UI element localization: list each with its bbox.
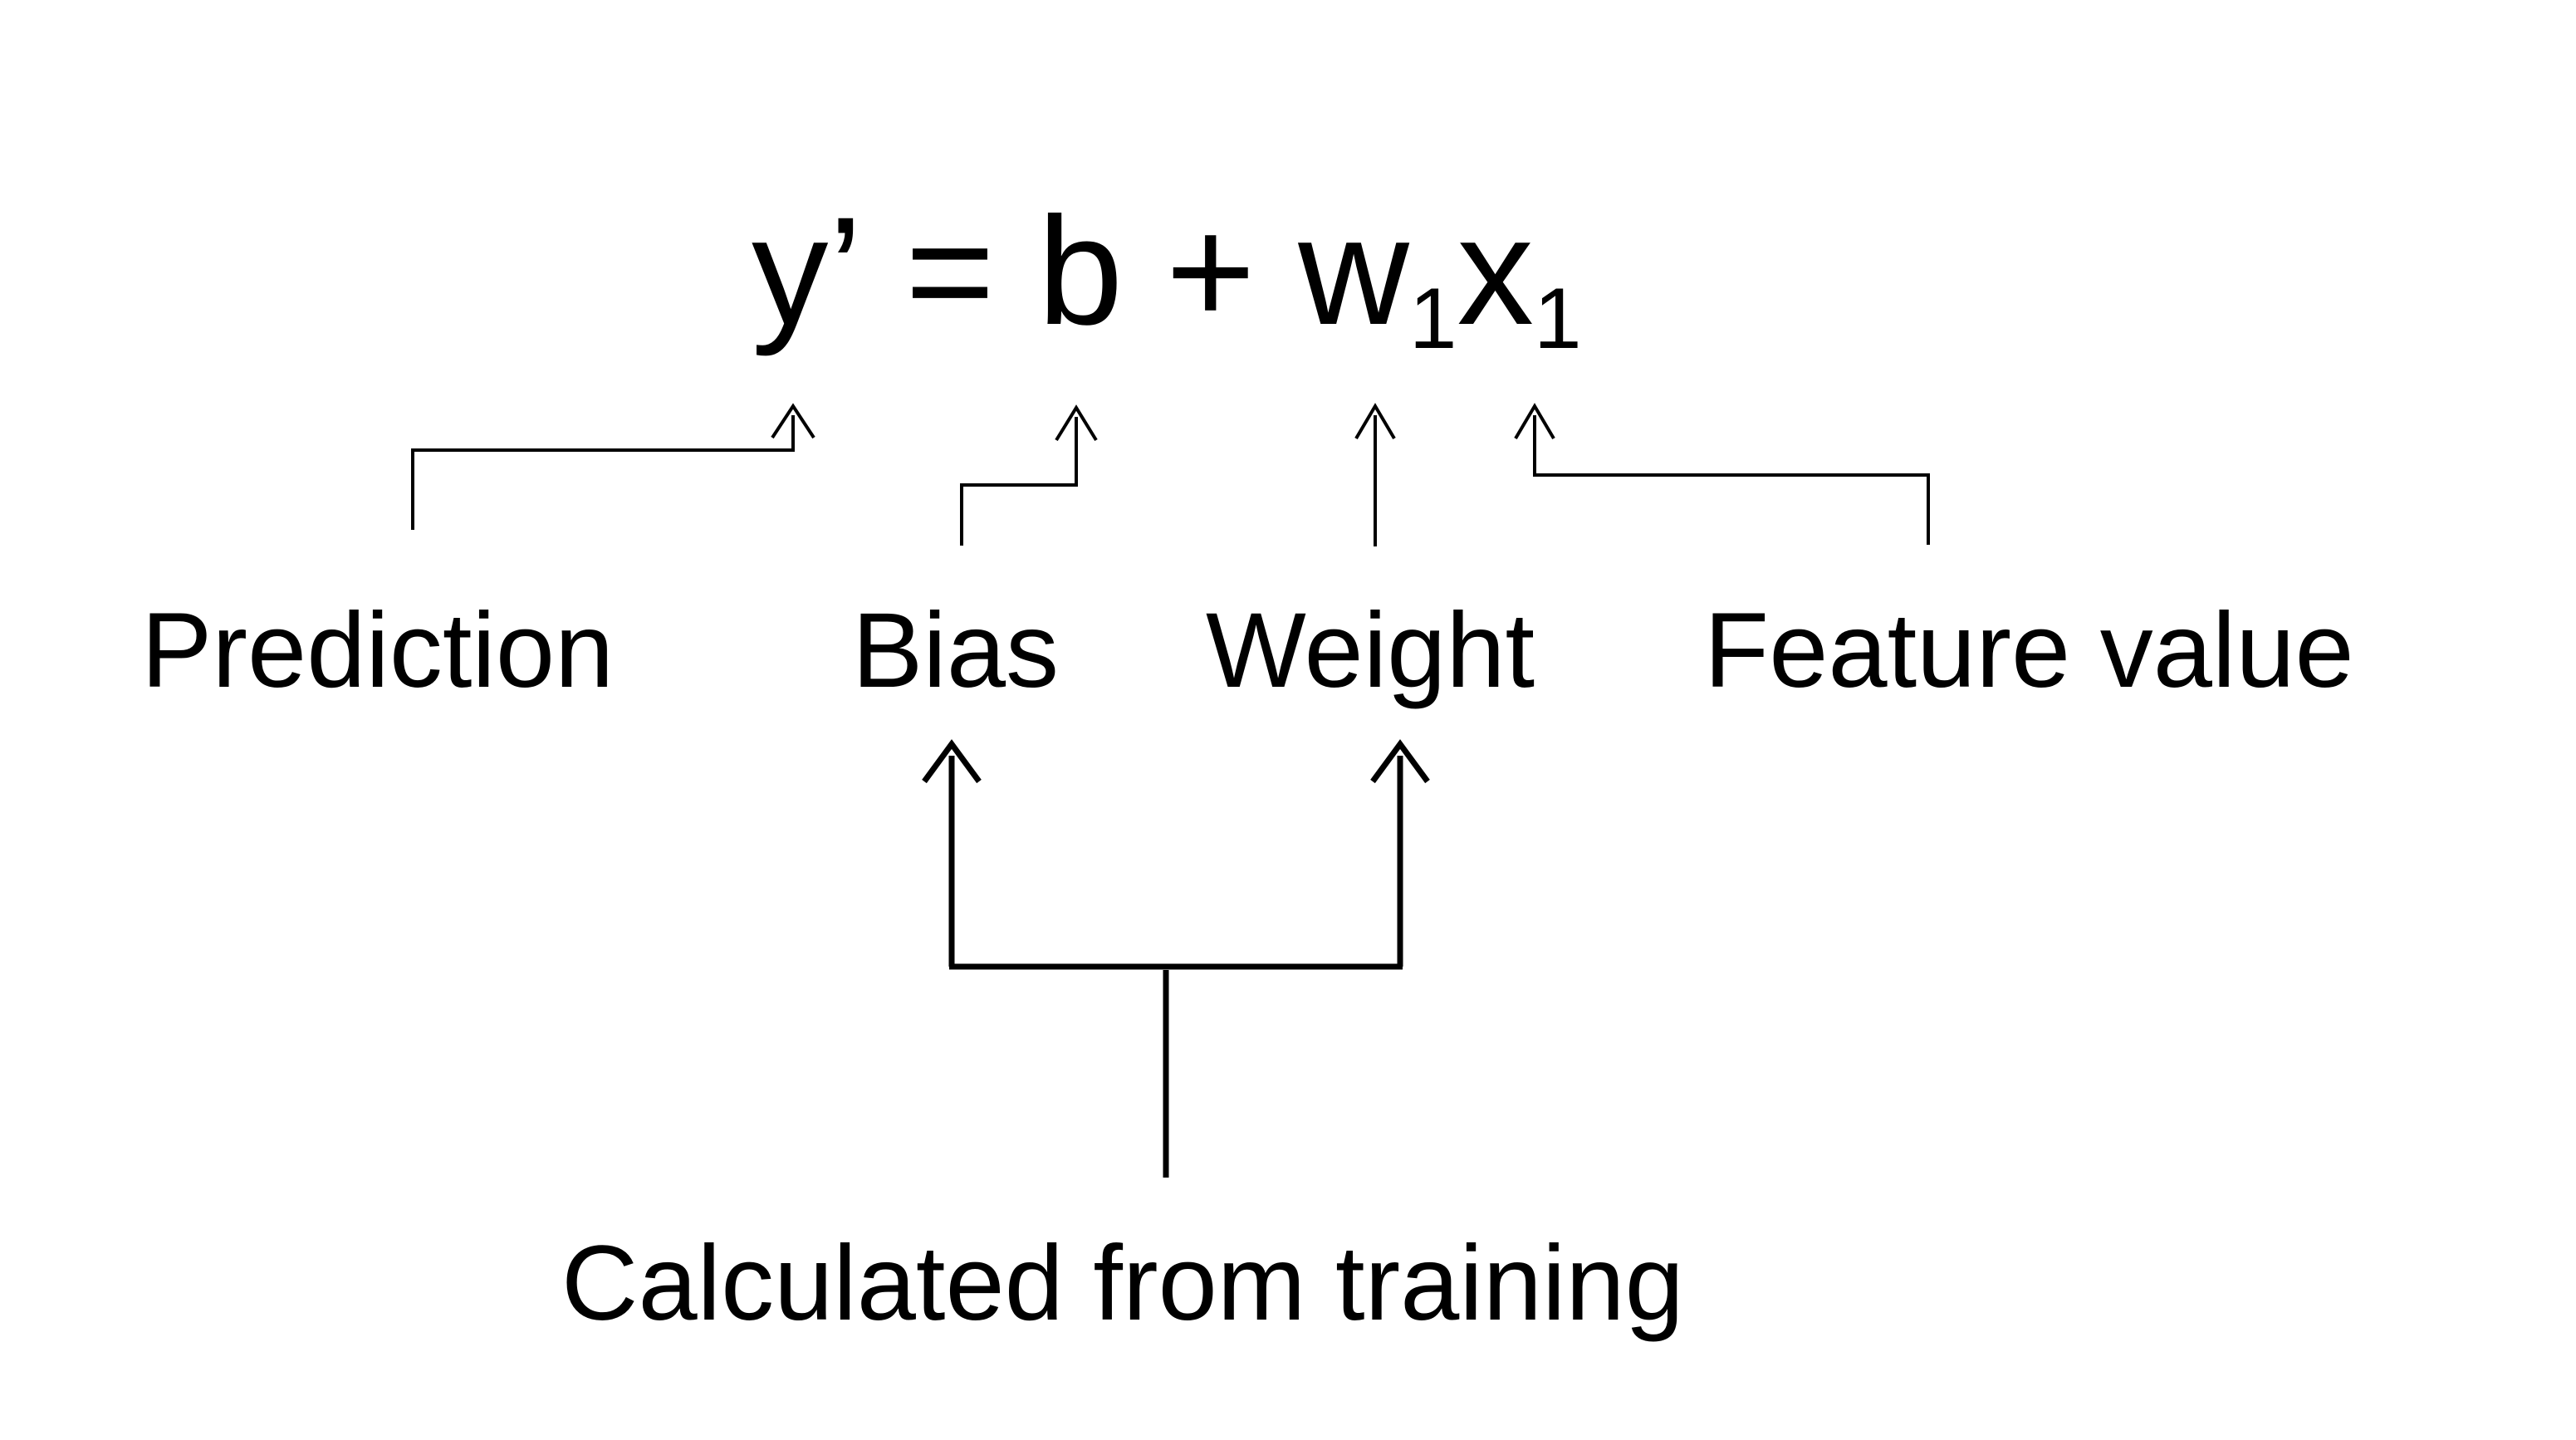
feature-connector — [1516, 406, 1928, 545]
equation-feature-symbol: x — [1457, 186, 1534, 357]
equation-plus-sign: + — [1166, 186, 1256, 357]
label-calculated-from-training: Calculated from training — [561, 1231, 1684, 1337]
equation-feature-subscript: 1 — [1534, 270, 1582, 366]
prediction-connector — [413, 406, 814, 530]
weight-connector — [1356, 406, 1394, 546]
equation-weight-subscript: 1 — [1409, 270, 1457, 366]
equation-equals-sign: = — [905, 186, 995, 357]
bias-connector — [962, 408, 1096, 546]
diagram-canvas: y’ = b + w1x1 Prediction Bias Weight Fea… — [0, 0, 2576, 1440]
equation-prediction-symbol: y’ — [752, 186, 863, 357]
equation-weight-symbol: w — [1298, 186, 1409, 357]
label-weight: Weight — [1206, 598, 1535, 704]
equation-bias-symbol: b — [1037, 186, 1123, 357]
label-bias: Bias — [852, 598, 1059, 704]
label-prediction: Prediction — [141, 598, 614, 704]
training-bracket-connector — [924, 744, 1428, 1178]
label-feature-value: Feature value — [1704, 598, 2354, 704]
equation: y’ = b + w1x1 — [752, 195, 1582, 362]
